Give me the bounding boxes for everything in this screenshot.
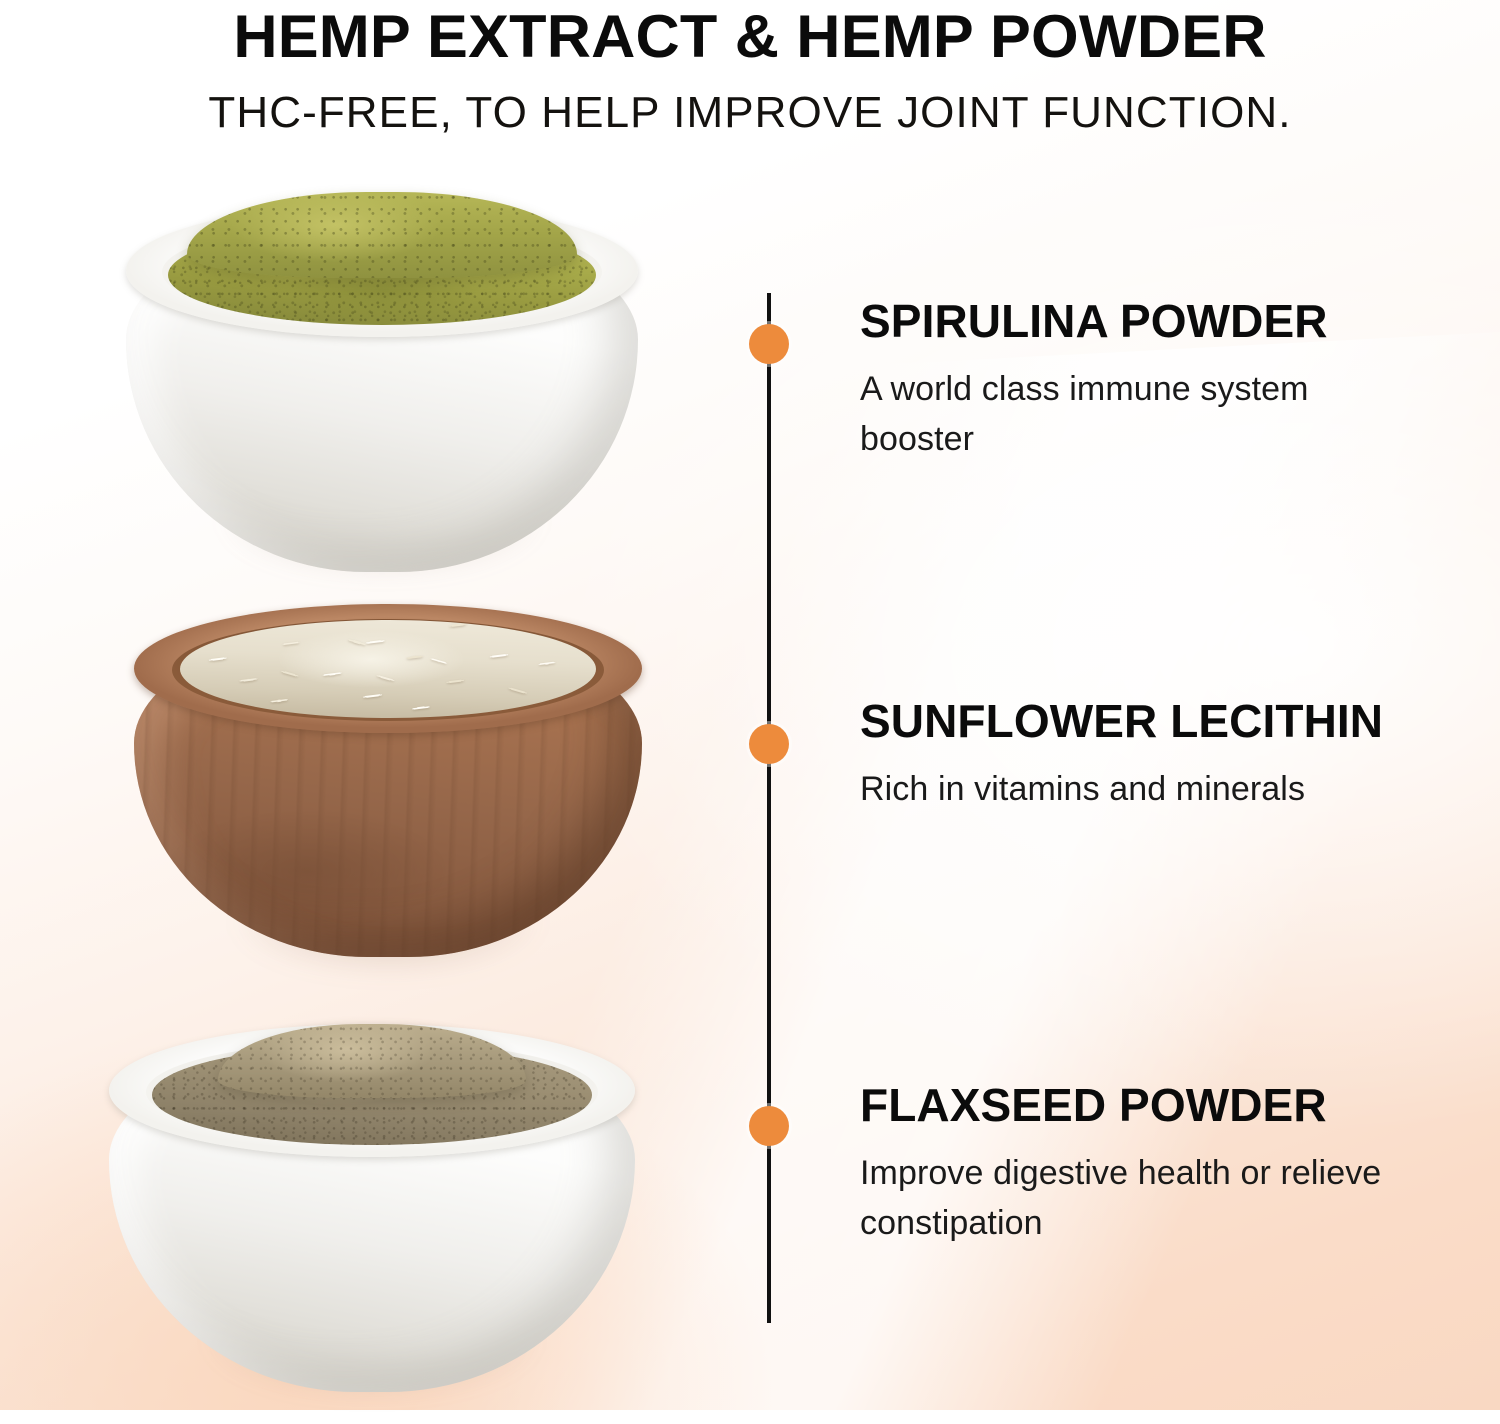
bullet-dot-icon bbox=[749, 324, 789, 364]
sunflower-seeds-fill bbox=[180, 620, 596, 719]
ingredient-photo-column bbox=[0, 0, 720, 1410]
flaxseed-bowl-photo bbox=[86, 1016, 658, 1408]
ingredient-list: SPIRULINA POWDER A world class immune sy… bbox=[720, 0, 1500, 1410]
ingredient-title: FLAXSEED POWDER bbox=[860, 1082, 1420, 1130]
ingredient-text-block: SPIRULINA POWDER A world class immune sy… bbox=[860, 298, 1420, 464]
ingredient-text-block: SUNFLOWER LECITHIN Rich in vitamins and … bbox=[860, 698, 1420, 814]
timeline-vertical-line bbox=[767, 293, 771, 1323]
ingredient-text-block: FLAXSEED POWDER Improve digestive health… bbox=[860, 1082, 1420, 1248]
ingredient-title: SPIRULINA POWDER bbox=[860, 298, 1420, 346]
spirulina-powder-mound bbox=[187, 192, 576, 278]
ingredient-description: A world class immune system booster bbox=[860, 364, 1420, 465]
bullet-dot-icon bbox=[749, 1106, 789, 1146]
sunflower-bowl-photo bbox=[118, 596, 658, 976]
ingredient-description: Improve digestive health or relieve cons… bbox=[860, 1148, 1420, 1249]
ingredient-description: Rich in vitamins and minerals bbox=[860, 764, 1420, 814]
spirulina-bowl-photo bbox=[104, 196, 660, 588]
bullet-dot-icon bbox=[749, 724, 789, 764]
ingredient-title: SUNFLOWER LECITHIN bbox=[860, 698, 1420, 746]
